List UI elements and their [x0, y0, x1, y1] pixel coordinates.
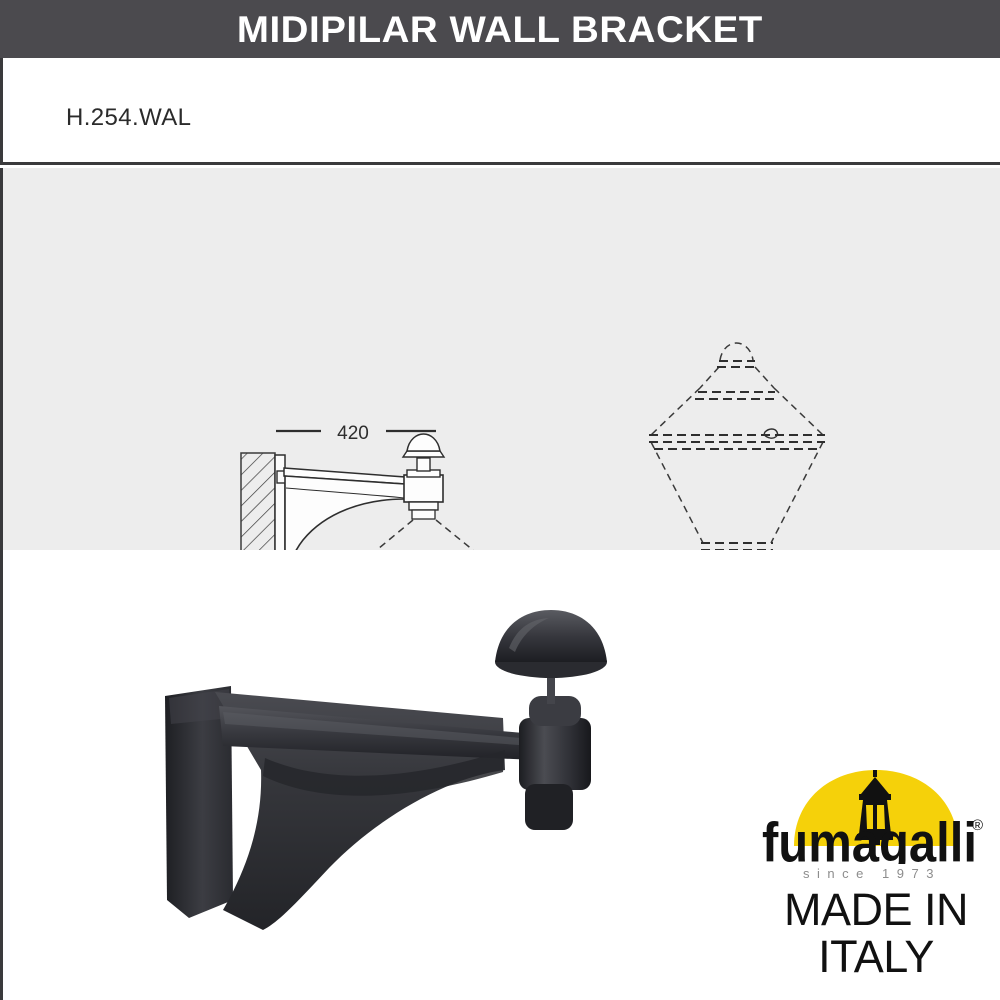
cap-stem-left	[417, 458, 430, 471]
logo-wordmark-text: fumagalli	[762, 812, 977, 864]
product-code-strip: H.254.WAL	[0, 58, 1000, 165]
product-photo-bracket	[153, 600, 673, 940]
drawing-view-right	[559, 343, 825, 550]
photo-dome-cap	[495, 610, 607, 662]
registered-mark: ®	[972, 817, 983, 834]
dashed-lantern-right	[651, 343, 823, 550]
made-in-italy-text: MADE IN ITALY	[760, 886, 992, 980]
dashed-lantern-bands-right	[649, 361, 825, 550]
header-bar: MIDIPILAR WALL BRACKET	[0, 0, 1000, 58]
lantern-finial-detail-right	[764, 429, 777, 438]
logo-since-text: since 1973	[766, 866, 978, 881]
technical-drawing-svg: 420	[3, 168, 1000, 550]
made-in-line-2: ITALY	[760, 933, 992, 980]
bracket-body-left	[285, 476, 405, 550]
fumagalli-logo: fumagalli ® since 1973 MADE IN ITALY	[760, 764, 992, 992]
product-photo-area: fumagalli ® since 1973 MADE IN ITALY	[0, 550, 1000, 1000]
cap-base-left	[403, 451, 444, 457]
logo-wordmark: fumagalli ®	[760, 812, 992, 864]
page-title: MIDIPILAR WALL BRACKET	[237, 11, 763, 48]
hub-bottom-ring-left	[409, 502, 438, 510]
dimension-label-420: 420	[337, 423, 369, 444]
technical-drawing-panel: 420	[0, 168, 1000, 550]
photo-hub-collar	[519, 718, 591, 790]
made-in-line-1: MADE IN	[760, 886, 992, 933]
dome-cap-left	[407, 434, 440, 451]
dashed-lantern-left	[321, 520, 521, 550]
photo-hub-bottom	[525, 784, 573, 830]
hub-collar-left	[404, 475, 443, 502]
wall-hatch-left	[241, 453, 275, 550]
drawing-view-left: 420	[241, 423, 523, 550]
product-code: H.254.WAL	[66, 104, 191, 132]
hub-nut-left	[412, 510, 435, 519]
